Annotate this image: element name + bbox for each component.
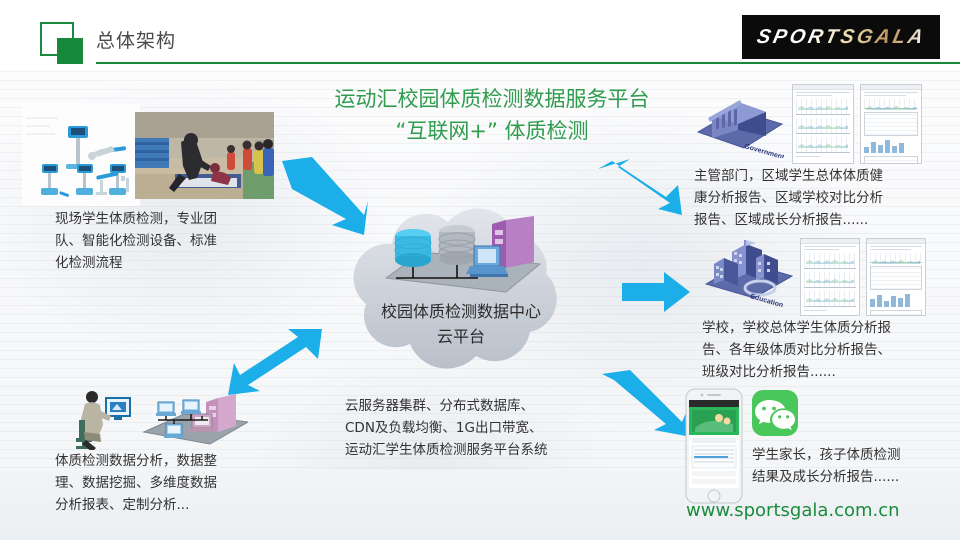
slide-main-title: 运动汇校园体质检测数据服务平台 “互联网+” 体质检测 [282, 84, 702, 147]
footer-url[interactable]: www.sportsgala.com.cn [686, 500, 900, 521]
input-data-analysis-caption: 体质检测数据分析，数据整 理、数据挖掘、多维度数据 分析报表、定制分析... [55, 451, 260, 517]
cloud-datacenter-icons [382, 216, 544, 304]
school-building-icon: Education [700, 240, 796, 308]
report-thumbnail [860, 84, 922, 164]
svg-text:Government: Government [743, 143, 784, 158]
fitness-testing-equipment-photo [22, 104, 140, 206]
smartphone-app-icon [685, 388, 743, 504]
report-thumbnail [866, 238, 926, 316]
arrow-testing-to-cloud [278, 155, 370, 239]
arrow-cloud-to-school [622, 272, 690, 312]
output-school-caption: 学校，学校总体学生体质分析报 告、各年级体质对比分析报告、 班级对比分析报告..… [702, 318, 952, 384]
page-title: 总体架构 [96, 26, 176, 53]
wechat-icon [752, 390, 798, 436]
cloud-platform-label: 校园体质检测数据中心 云平台 [318, 300, 604, 350]
arrow-cloud-to-parents [600, 370, 690, 436]
arrow-analysis-to-cloud [226, 325, 326, 397]
output-government-caption: 主管部门，区域学生总体体质健 康分析报告、区域学校对比分析 报告、区域成长分析报… [694, 166, 946, 232]
brand-logo: SPORTSGALA [742, 15, 940, 59]
gym-students-testing-photo [135, 112, 274, 199]
cloud-infrastructure-caption: 云服务器集群、分布式数据库、 CDN及负载均衡、1G出口带宽、 运动汇学生体质检… [345, 396, 610, 462]
main-title-line-2: “互联网+” 体质检测 [282, 116, 702, 148]
square-filled-green-icon [57, 38, 83, 64]
brand-logo-text: SPORTSGALA [754, 26, 927, 49]
arrow-cloud-to-government [596, 155, 684, 217]
slide-header: 总体架构 SPORTSGALA [0, 0, 960, 70]
analyst-at-computer-icon [72, 388, 132, 450]
header-divider [96, 62, 960, 64]
output-parents-caption: 学生家长，孩子体质检测 结果及成长分析报告...... [752, 445, 952, 489]
report-thumbnail [800, 238, 860, 316]
report-thumbnail [792, 84, 854, 164]
government-building-icon: Government [694, 86, 784, 158]
main-title-line-1: 运动汇校园体质检测数据服务平台 [282, 84, 702, 116]
input-field-testing-caption: 现场学生体质检测，专业团 队、智能化检测设备、标准 化检测流程 [55, 209, 255, 275]
computer-network-server-icon [136, 392, 248, 450]
